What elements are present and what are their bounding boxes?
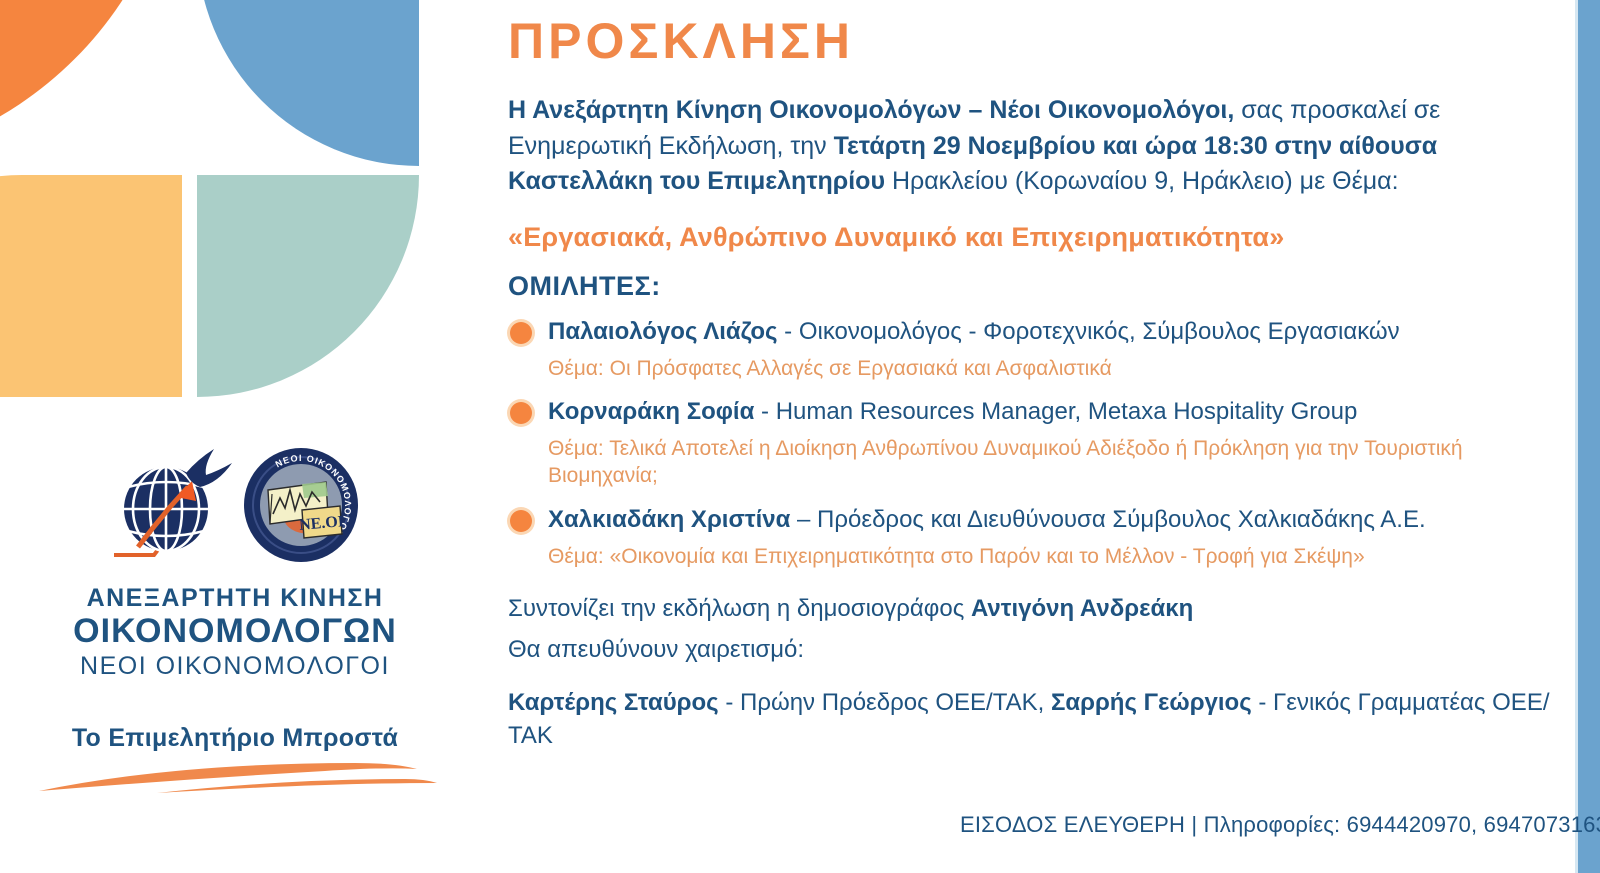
speaker-topic: Θέμα: Οι Πρόσφατες Αλλαγές σε Εργασιακά … (548, 355, 1558, 382)
blue-quadrant-shape (197, 0, 419, 166)
speaker-line: Κορναράκη Σοφία - Human Resources Manage… (548, 396, 1558, 427)
greeter-role-1: - Πρώην Πρόεδρος ΟΕΕ/ΤΑΚ, (719, 689, 1051, 716)
speakers-list: Παλαιολόγος Λιάζος - Οικονομολόγος - Φορ… (508, 316, 1558, 571)
teal-quadrant-shape (197, 175, 419, 397)
organization-block: ΝΕΟΙ ΟΙΚΟΝΟΜΟΛΟΓΟΙ ΝΕ.ΟΙ (0, 440, 470, 801)
greeter-name-1: Καρτέρης Σταύρος (508, 689, 719, 716)
speaker-topic: Θέμα: «Οικονομία και Επιχειρηματικότητα … (548, 543, 1558, 570)
organization-name-line2: ΟΙΚΟΝΟΜΟΛΟΓΩΝ (0, 612, 470, 650)
neoi-oikonomologoi-badge-icon: ΝΕΟΙ ΟΙΚΟΝΟΜΟΛΟΓΟΙ ΝΕ.ΟΙ (240, 444, 362, 566)
bullet-icon (510, 402, 532, 424)
right-edge-blue-strip (1578, 0, 1600, 873)
bullet-icon (510, 510, 532, 532)
speakers-heading: ΟΜΙΛΗΤΕΣ: (508, 271, 1558, 302)
speaker-name: Παλαιολόγος Λιάζος (548, 318, 777, 345)
greetings-intro: Θα απευθύνουν χαιρετισμό: (508, 633, 1558, 668)
moderator-name: Αντιγόνη Ανδρεάκη (971, 595, 1193, 622)
organization-name-line1: ΑΝΕΞΑΡΤΗΤΗ ΚΙΝΗΣΗ (0, 584, 470, 612)
speaker-role: - Human Resources Manager, Metaxa Hospit… (754, 398, 1357, 425)
orange-swoosh-icon (25, 755, 445, 801)
page-title: ΠΡΟΣΚΛΗΣΗ (508, 14, 1558, 69)
footer-info: ΕΙΣΟΔΟΣ ΕΛΕΥΘΕΡΗ | Πληροφορίες: 69444209… (960, 812, 1560, 838)
intro-text-2: Ηρακλείου (Κορωναίου 9, Ηράκλειο) με Θέμ… (885, 167, 1399, 195)
organization-name: ΑΝΕΞΑΡΤΗΤΗ ΚΙΝΗΣΗ ΟΙΚΟΝΟΜΟΛΟΓΩΝ ΝΕΟΙ ΟΙΚ… (0, 584, 470, 680)
invitation-poster: ΝΕΟΙ ΟΙΚΟΝΟΜΟΛΟΓΟΙ ΝΕ.ΟΙ (0, 0, 1600, 873)
speaker-role: – Πρόεδρος και Διευθύνουσα Σύμβουλος Χαλ… (790, 506, 1425, 533)
bullet-icon (510, 322, 532, 344)
intro-organization: Η Ανεξάρτητη Κίνηση Οικονομολόγων – Νέοι… (508, 96, 1234, 124)
invitation-content: ΠΡΟΣΚΛΗΣΗ Η Ανεξάρτητη Κίνηση Οικονομολό… (508, 0, 1558, 753)
speaker-line: Παλαιολόγος Λιάζος - Οικονομολόγος - Φορ… (548, 316, 1558, 347)
speaker-name: Χαλκιαδάκη Χριστίνα (548, 506, 790, 533)
speaker-role: - Οικονομολόγος - Φοροτεχνικός, Σύμβουλο… (777, 318, 1399, 345)
greeters-line: Καρτέρης Σταύρος - Πρώην Πρόεδρος ΟΕΕ/ΤΑ… (508, 686, 1558, 753)
speaker-name: Κορναράκη Σοφία (548, 398, 754, 425)
greeter-name-2: Σαρρής Γεώργιος (1051, 689, 1252, 716)
list-item: Παλαιολόγος Λιάζος - Οικονομολόγος - Φορ… (508, 316, 1558, 382)
moderator-prefix: Συντονίζει την εκδήλωση η δημοσιογράφος (508, 595, 971, 622)
organization-name-line3: ΝΕΟΙ ΟΙΚΟΝΟΜΟΛΟΓΟΙ (0, 652, 470, 680)
list-item: Χαλκιαδάκη Χριστίνα – Πρόεδρος και Διευθ… (508, 504, 1558, 570)
yellow-quadrant-shape (0, 175, 182, 397)
moderator-line: Συντονίζει την εκδήλωση η δημοσιογράφος … (508, 592, 1558, 627)
intro-paragraph: Η Ανεξάρτητη Κίνηση Οικονομολόγων – Νέοι… (508, 93, 1558, 200)
decorative-quadrants (0, 0, 420, 400)
orange-quadrant-shape (0, 0, 182, 166)
speaker-topic: Θέμα: Τελικά Αποτελεί η Διοίκηση Ανθρωπί… (548, 435, 1558, 490)
logo-row: ΝΕΟΙ ΟΙΚΟΝΟΜΟΛΟΓΟΙ ΝΕ.ΟΙ (0, 440, 470, 570)
globe-bird-logo-icon (108, 443, 236, 568)
event-theme-title: «Εργασιακά, Ανθρώπινο Δυναμικό και Επιχε… (508, 222, 1558, 253)
speaker-line: Χαλκιαδάκη Χριστίνα – Πρόεδρος και Διευθ… (548, 504, 1558, 535)
chamber-tagline: Το Επιμελητήριο Μπροστά (0, 724, 470, 753)
list-item: Κορναράκη Σοφία - Human Resources Manage… (508, 396, 1558, 490)
